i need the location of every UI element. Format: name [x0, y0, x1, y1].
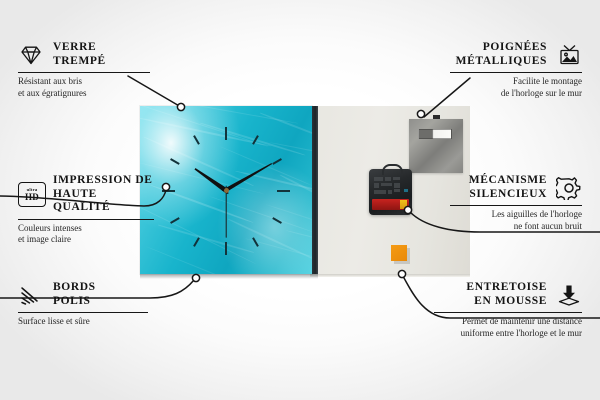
ultra-hd-icon: ultra HD	[18, 182, 44, 206]
clock-tick	[170, 217, 180, 224]
feature-verre-trempe: VERRE TREMPÉ Résistant aux bris et aux é…	[18, 41, 150, 99]
minute-hand	[222, 162, 273, 194]
hanger-slot	[418, 129, 452, 139]
clock-tick	[162, 190, 175, 192]
battery-label	[372, 199, 409, 210]
feature-desc: Permet de maintenir une distance uniform…	[434, 316, 582, 339]
feature-desc: Couleurs intenses et image claire	[18, 223, 154, 246]
feature-rule	[18, 312, 148, 313]
foam-spacer-arrow-icon	[556, 283, 582, 307]
feature-rule	[434, 312, 582, 313]
feature-poignees-metalliques: POIGNÉES MÉTALLIQUES Facilite le montage…	[450, 41, 582, 99]
feature-title: IMPRESSION DE HAUTE QUALITÉ	[53, 174, 154, 215]
feature-title: MÉCANISME SILENCIEUX	[469, 174, 547, 201]
infographic-canvas: VERRE TREMPÉ Résistant aux bris et aux é…	[0, 0, 600, 400]
feature-rule	[18, 72, 150, 73]
feature-header: POIGNÉES MÉTALLIQUES	[450, 41, 582, 68]
feature-entretoise-en-mousse: ENTRETOISE EN MOUSSE Permet de maintenir…	[434, 281, 582, 339]
mechanism-loop	[382, 164, 403, 175]
feature-bords-polis: BORDS POLIS Surface lisse et sûre	[18, 281, 148, 328]
feature-header: VERRE TREMPÉ	[18, 41, 150, 68]
clock-front-panel	[140, 106, 312, 274]
clock-mechanism	[369, 169, 412, 215]
mechanism-grid	[374, 177, 400, 194]
feature-impression-haute-qualite: ultra HD IMPRESSION DE HAUTE QUALITÉ Cou…	[18, 174, 154, 246]
picture-hanger-icon	[556, 43, 582, 67]
feature-desc: Facilite le montage de l'horloge sur le …	[450, 76, 582, 99]
clock-hub	[224, 188, 229, 193]
mechanism-indicator	[404, 189, 408, 192]
feature-header: ultra HD IMPRESSION DE HAUTE QUALITÉ	[18, 174, 154, 215]
clock-tick	[225, 127, 227, 140]
metal-hanger-plate	[409, 119, 463, 173]
feature-mecanisme-silencieux: MÉCANISME SILENCIEUX Les aiguilles de l'…	[450, 174, 582, 232]
feature-header: ENTRETOISE EN MOUSSE	[434, 281, 582, 308]
feature-rule	[450, 72, 582, 73]
hanger-nub	[433, 115, 440, 119]
panel-shadow	[140, 274, 318, 279]
feature-title: VERRE TREMPÉ	[53, 41, 106, 68]
feature-title: ENTRETOISE EN MOUSSE	[466, 281, 547, 308]
feature-desc: Surface lisse et sûre	[18, 316, 148, 328]
feature-rule	[18, 219, 154, 220]
clock-tick	[252, 237, 259, 247]
clock-tick	[272, 158, 282, 165]
gear-icon	[556, 176, 582, 200]
second-hand	[225, 186, 226, 238]
clock-tick	[272, 217, 282, 224]
clock-tick	[277, 190, 290, 192]
feature-desc: Résistant aux bris et aux égratignures	[18, 76, 150, 99]
clock-dial	[140, 106, 312, 274]
feature-title: POIGNÉES MÉTALLIQUES	[456, 41, 547, 68]
clock-tick	[225, 242, 227, 255]
foam-spacer	[391, 245, 407, 261]
clock-tick	[252, 135, 259, 145]
clock-tick	[170, 158, 180, 165]
clock-tick	[193, 135, 200, 145]
feature-rule	[450, 205, 582, 206]
feature-header: BORDS POLIS	[18, 281, 148, 308]
feature-header: MÉCANISME SILENCIEUX	[450, 174, 582, 201]
ultra-hd-bottom: HD	[25, 193, 39, 202]
clock-tick	[193, 237, 200, 247]
feature-title: BORDS POLIS	[53, 281, 96, 308]
polished-edges-icon	[18, 283, 44, 307]
feature-desc: Les aiguilles de l'horloge ne font aucun…	[450, 209, 582, 232]
panel-edge	[312, 106, 318, 274]
diamond-icon	[18, 43, 44, 67]
